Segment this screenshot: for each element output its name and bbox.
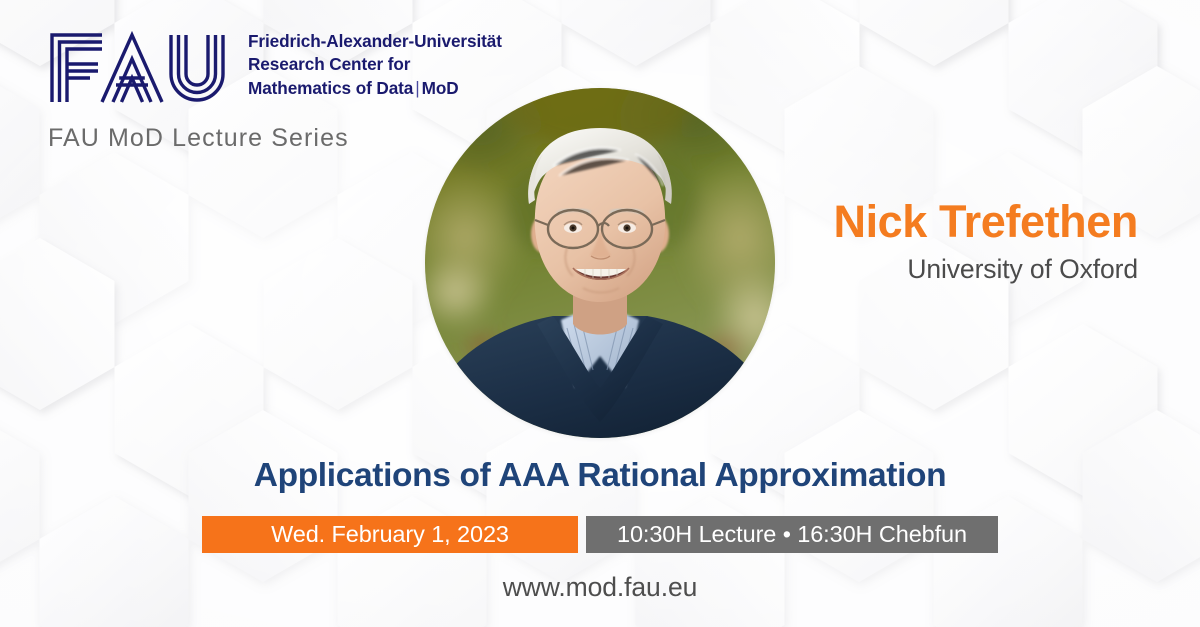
fau-logo-wordmark: Friedrich-Alexander-Universität Research… — [248, 30, 502, 100]
speaker-portrait — [425, 88, 775, 438]
lecture-date-badge: Wed. February 1, 2023 — [202, 516, 578, 553]
lecture-title: Applications of AAA Rational Approximati… — [0, 457, 1200, 495]
lecture-series-label: FAU MoD Lecture Series — [48, 124, 349, 153]
fau-logo-mark — [46, 26, 234, 104]
logo-line-mod: Mathematics of Data|MoD — [248, 77, 502, 100]
fau-mod-logo[interactable]: Friedrich-Alexander-Universität Research… — [46, 26, 502, 104]
website-url[interactable]: www.mod.fau.eu — [0, 572, 1200, 603]
logo-line-center: Research Center for — [248, 53, 502, 76]
lecture-info-bars: Wed. February 1, 2023 10:30H Lecture • 1… — [202, 516, 998, 553]
logo-divider: | — [413, 78, 421, 98]
speaker-info: Nick Trefethen University of Oxford — [833, 198, 1138, 285]
lecture-announcement-poster: Friedrich-Alexander-Universität Research… — [0, 0, 1200, 627]
speaker-name: Nick Trefethen — [833, 198, 1138, 247]
speaker-affiliation: University of Oxford — [833, 254, 1138, 285]
speaker-portrait-image — [425, 88, 775, 438]
logo-line-mathematics-of-data: Mathematics of Data — [248, 78, 413, 98]
logo-line-university: Friedrich-Alexander-Universität — [248, 30, 502, 53]
lecture-time-badge: 10:30H Lecture • 16:30H Chebfun — [586, 516, 998, 553]
logo-line-mod-abbrev: MoD — [422, 78, 459, 98]
